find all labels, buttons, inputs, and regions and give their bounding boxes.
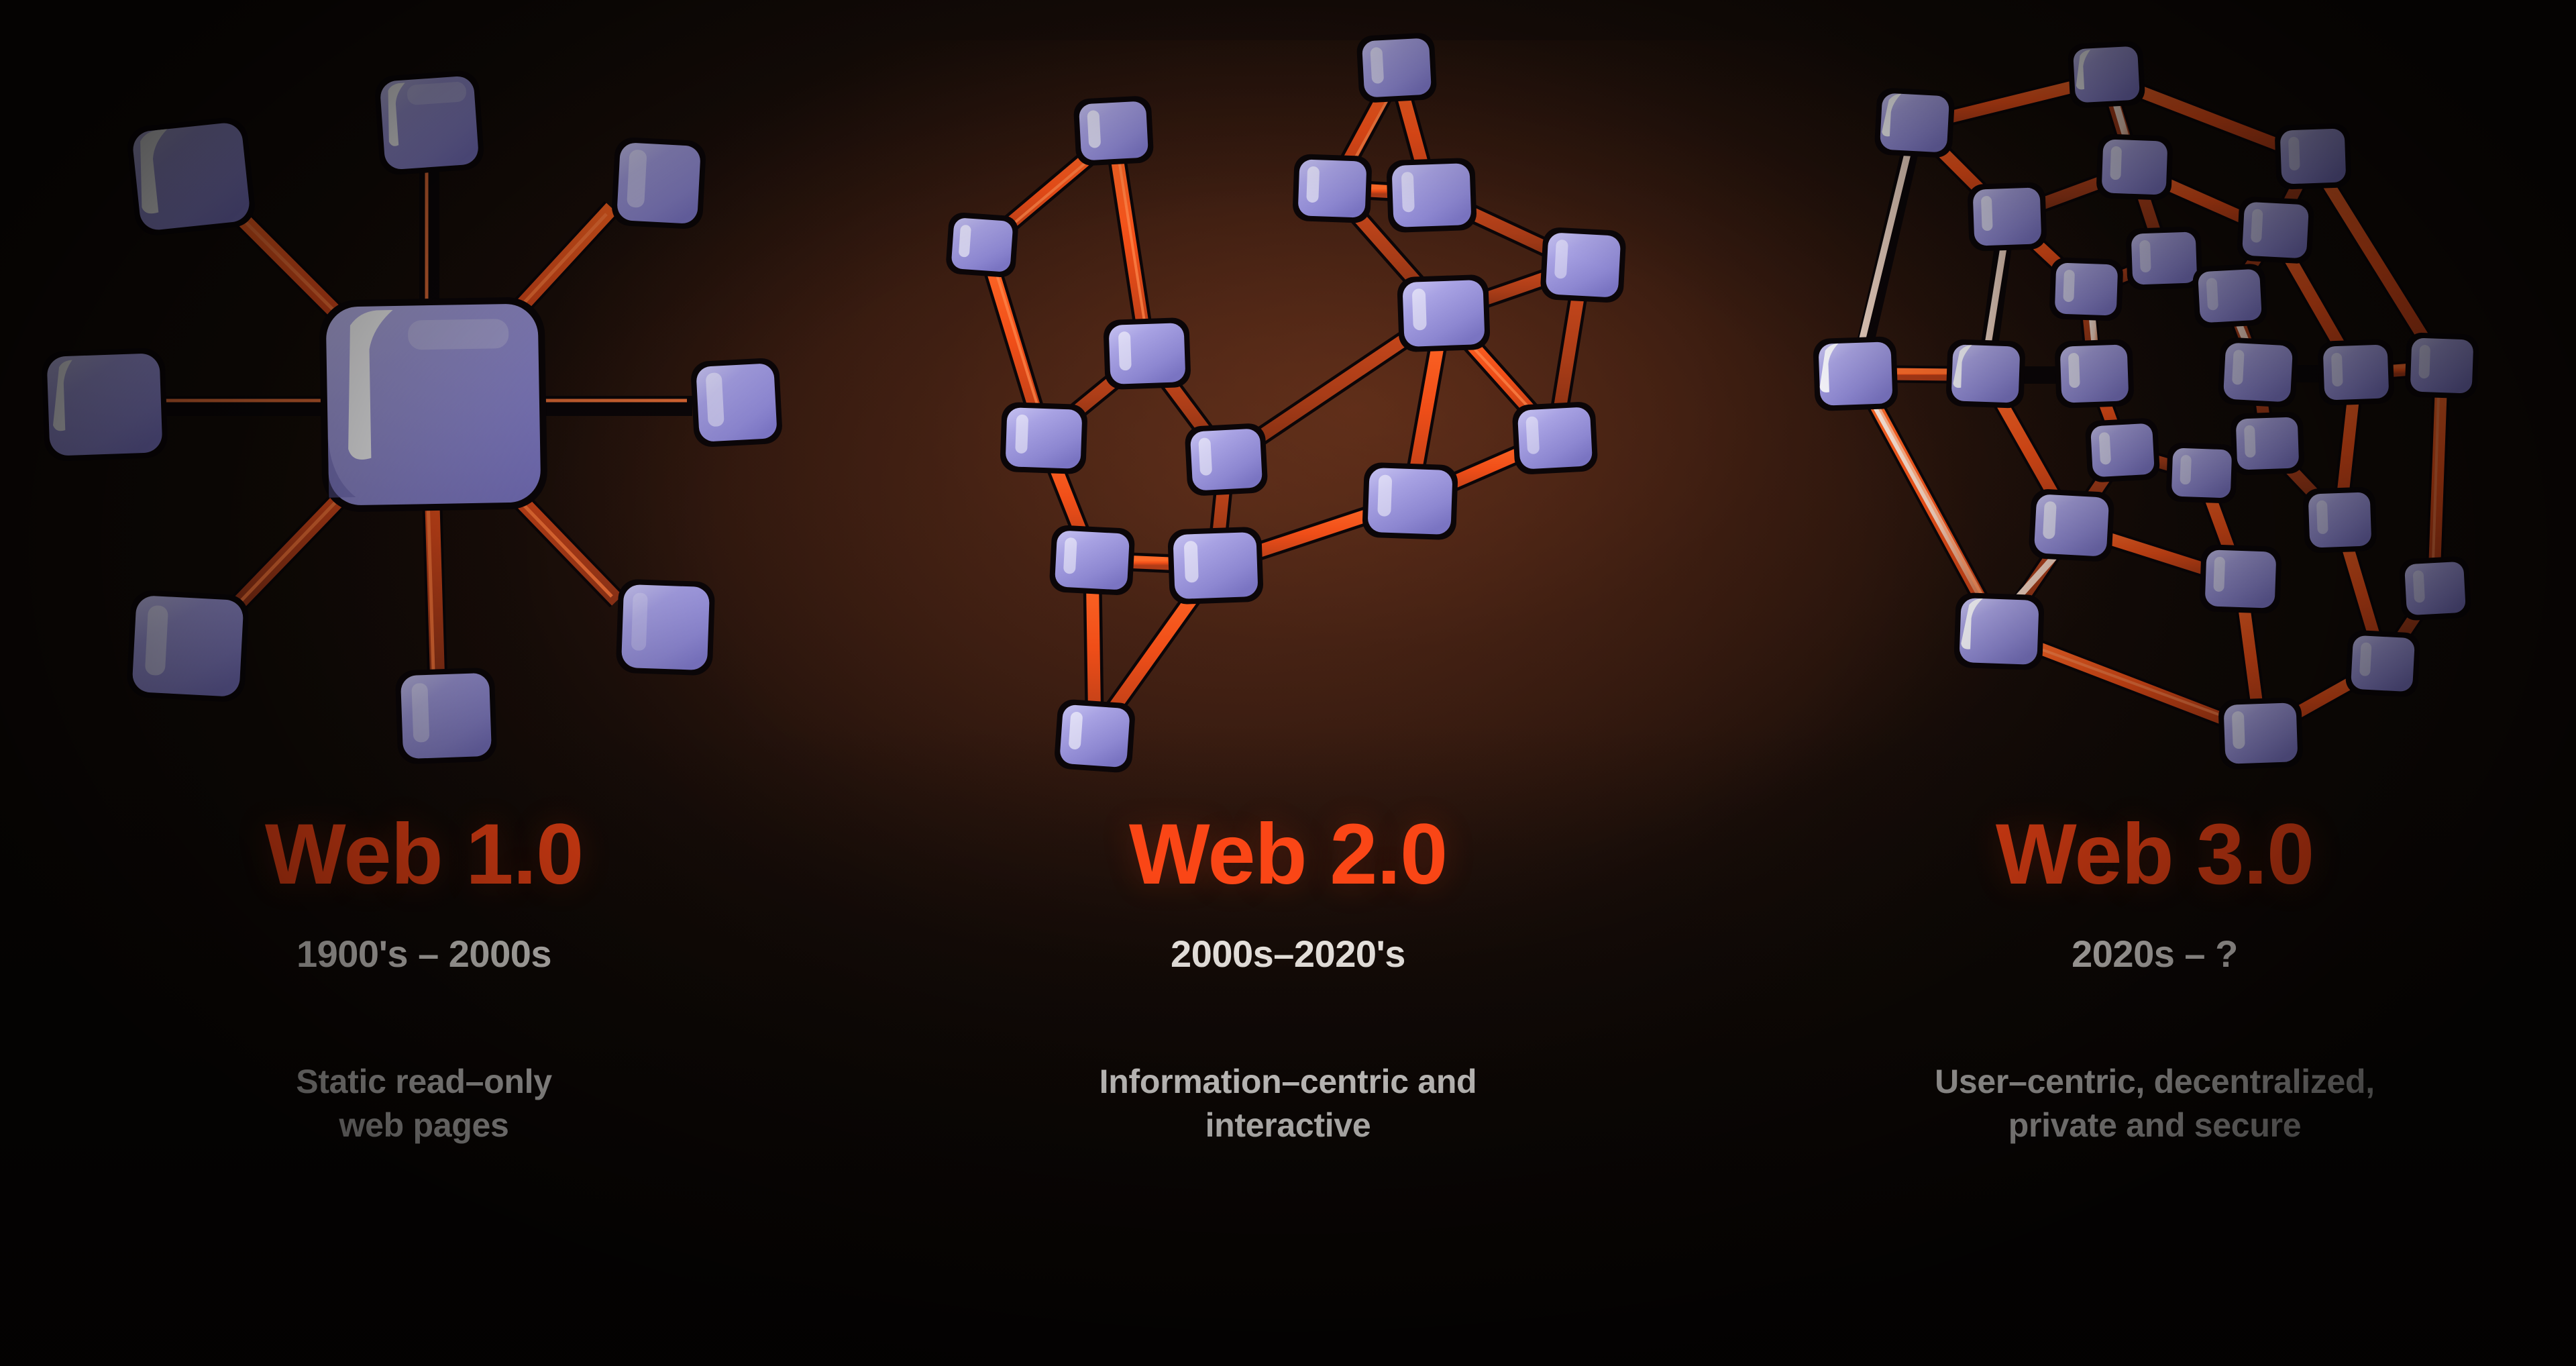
node-cube: [1540, 227, 1626, 303]
node-cube: [616, 579, 716, 676]
node-cube: [1167, 527, 1264, 605]
node-cube: [1292, 154, 1372, 223]
node-cube: [1000, 402, 1088, 474]
node-cube: [1945, 339, 2025, 409]
node-cube: [2404, 332, 2479, 399]
text-block-web2: Web 2.0 2000s–2020's Information–centric…: [859, 812, 1717, 1147]
node-cube: [2217, 337, 2298, 408]
node-cube: [2218, 697, 2304, 770]
node-cube: [2345, 629, 2421, 698]
node-cube: [945, 211, 1019, 278]
node-cube: [2317, 339, 2394, 406]
node-cube: [2302, 486, 2377, 554]
node-cube: [2274, 123, 2351, 190]
node-cube: [2165, 442, 2237, 504]
node-cube: [1511, 401, 1598, 475]
node-cube: [1874, 87, 1955, 158]
node-cube: [126, 590, 250, 703]
node-cube: [374, 70, 485, 176]
diagram-star-topology-network: [0, 0, 859, 812]
era-title: Web 1.0: [265, 812, 583, 898]
node-cube: [1184, 423, 1268, 496]
hub-node-cube: [319, 297, 547, 513]
text-block-web3: Web 3.0 2020s – ? User–centric, decentra…: [1725, 812, 2576, 1147]
infographic-stage: Web 1.0 1900's – 2000s Static read–onlyw…: [0, 0, 2576, 1366]
node-cube: [2237, 196, 2315, 264]
node-cube: [1073, 95, 1154, 166]
column-web3: Web 3.0 2020s – ? User–centric, decentra…: [1717, 0, 2576, 1366]
diagram-mesh-cluster-network: [859, 0, 1717, 812]
node-cube: [2054, 339, 2134, 409]
node-group: [1813, 40, 2479, 770]
era-years: 2020s – ?: [2072, 935, 2238, 973]
era-description: User–centric, decentralized,private and …: [1935, 1060, 2375, 1147]
node-cube: [1386, 158, 1477, 233]
node-cube: [1362, 462, 1458, 541]
diagram-lattice-decentralized-network: [1717, 0, 2576, 812]
node-cube: [2028, 488, 2114, 562]
era-title: Web 2.0: [1129, 812, 1447, 898]
node-cube: [1049, 525, 1135, 596]
node-cube: [2096, 134, 2173, 201]
node-cube: [2049, 257, 2123, 321]
node-cube: [690, 358, 784, 448]
text-block-web1: Web 1.0 1900's – 2000s Static read–onlyw…: [0, 812, 853, 1147]
node-cube: [1356, 32, 1437, 103]
node-cube: [1813, 336, 1898, 411]
node-cube: [41, 348, 168, 462]
node-cube: [2230, 411, 2304, 476]
node-cube: [2125, 226, 2202, 291]
era-title: Web 3.0: [1996, 812, 2314, 898]
node-cube: [2192, 263, 2268, 329]
column-web2: Web 2.0 2000s–2020's Information–centric…: [859, 0, 1717, 1366]
hub-node-cube: [1397, 274, 1491, 353]
era-description: Information–centric andinteractive: [1099, 1060, 1477, 1147]
node-cube: [1054, 698, 1136, 774]
column-container: Web 1.0 1900's – 2000s Static read–onlyw…: [0, 0, 2576, 1366]
edge-group: [985, 72, 1583, 735]
node-cube: [1103, 317, 1191, 390]
node-cube: [1953, 592, 2045, 671]
node-cube: [395, 667, 498, 764]
node-cube: [611, 137, 707, 230]
era-description: Static read–onlyweb pages: [296, 1060, 551, 1147]
node-cube: [2199, 544, 2282, 614]
node-cube: [2399, 556, 2472, 621]
column-web1: Web 1.0 1900's – 2000s Static read–onlyw…: [0, 0, 859, 1366]
era-years: 1900's – 2000s: [297, 935, 551, 973]
era-years: 2000s–2020's: [1171, 935, 1405, 973]
node-cube: [1967, 182, 2047, 252]
node-cube: [2068, 40, 2146, 109]
node-cube: [2085, 417, 2161, 483]
node-cube: [125, 115, 257, 238]
